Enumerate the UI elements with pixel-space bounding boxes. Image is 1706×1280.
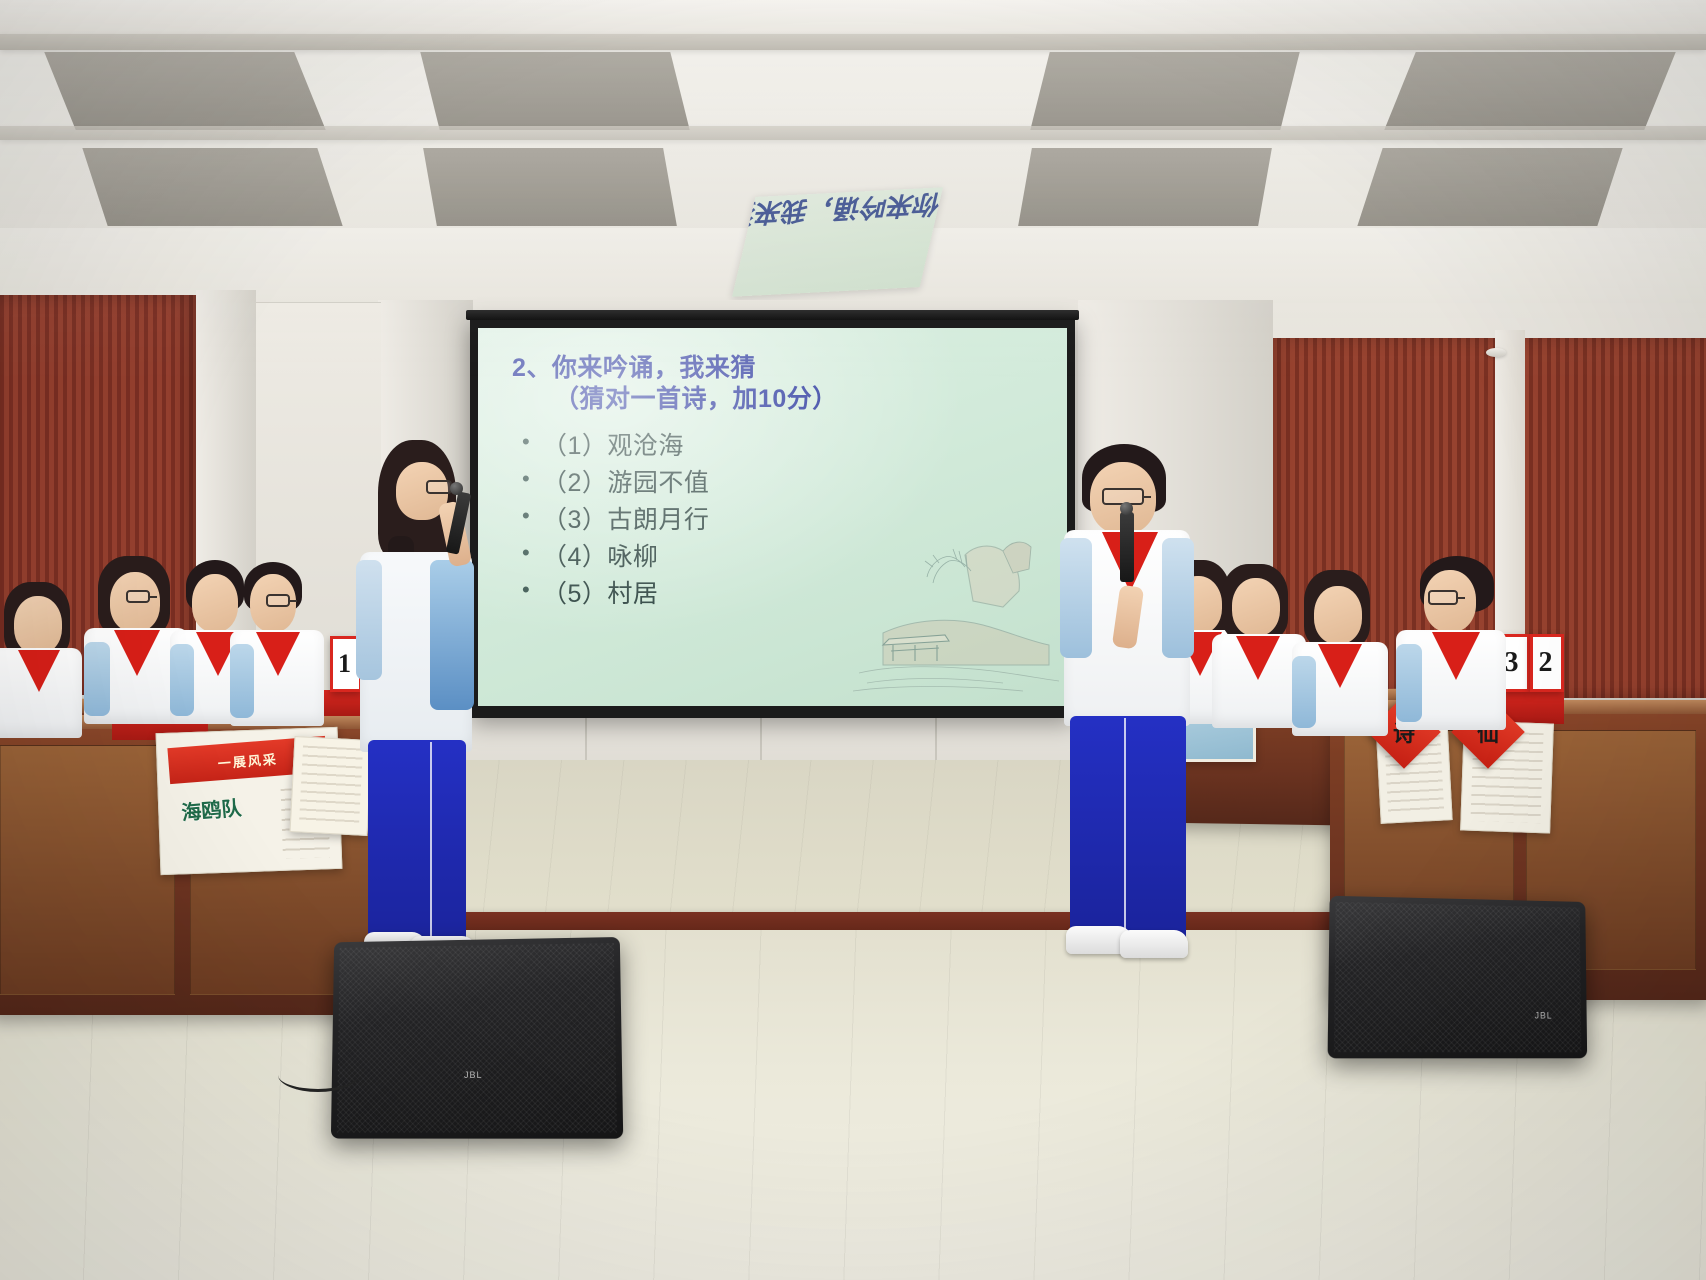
projection-screen-frame: 2、你来吟诵，我来猜 （猜对一首诗，加10分） （1）观沧海 （2）游园不值 （… <box>470 318 1075 718</box>
ceiling: 你来吟诵，我来猜 <box>0 0 1706 330</box>
slide-item-1: （1）观沧海 <box>520 428 1067 465</box>
team-poster-left-secondary[interactable] <box>290 736 373 836</box>
poster-handwriting-left-2 <box>299 745 364 827</box>
slide-subtitle: （猜对一首诗，加10分） <box>478 384 1067 415</box>
classroom-scene: 你来吟诵，我来猜 2、你来吟诵，我来猜 （猜对一首诗，加10分） （1）观沧海 … <box>0 0 1706 1280</box>
ceiling-recess-right2 <box>1384 52 1676 130</box>
speaker-grille <box>337 943 617 1133</box>
slide-item-2: （2）游园不值 <box>520 465 1067 502</box>
speaker-cable <box>278 1058 358 1092</box>
ink-landscape-icon <box>853 515 1063 700</box>
smoke-detector <box>1486 348 1506 357</box>
desk-panel-a <box>0 745 175 995</box>
speaker-brand-mark: JBL <box>464 1070 483 1080</box>
ceiling-recess-row2-c <box>1018 148 1272 226</box>
speaker-grille <box>1334 902 1581 1052</box>
score-digit-right-3[interactable]: 2 <box>1530 634 1564 692</box>
projection-screen[interactable]: 2、你来吟诵，我来猜 （猜对一首诗，加10分） （1）观沧海 （2）游园不值 （… <box>478 328 1067 706</box>
ceiling-sign-text: 你来吟诵，我来猜 <box>747 187 943 233</box>
ceiling-recess-row2-a <box>82 148 342 226</box>
ceiling-beam-2 <box>0 126 1706 140</box>
ceiling-sign-reflection: 你来吟诵，我来猜 <box>732 187 943 297</box>
ceiling-plane <box>0 0 1706 36</box>
ceiling-beam-1 <box>0 34 1706 50</box>
ceiling-recess-row2-b <box>423 148 677 226</box>
ceiling-recess-left <box>44 52 326 130</box>
stage-monitor-speaker-right: JBL <box>1328 896 1588 1059</box>
speaker-brand-mark-2: JBL <box>1535 1011 1553 1021</box>
ceiling-recess-row2-d <box>1357 148 1622 226</box>
team-name-left: 海鸥队 <box>180 791 242 825</box>
ceiling-recess-right <box>1030 52 1299 130</box>
ceiling-recess-left2 <box>420 52 689 130</box>
stage-monitor-speaker-front: JBL <box>331 937 623 1139</box>
slide-title: 2、你来吟诵，我来猜 <box>478 328 1067 384</box>
